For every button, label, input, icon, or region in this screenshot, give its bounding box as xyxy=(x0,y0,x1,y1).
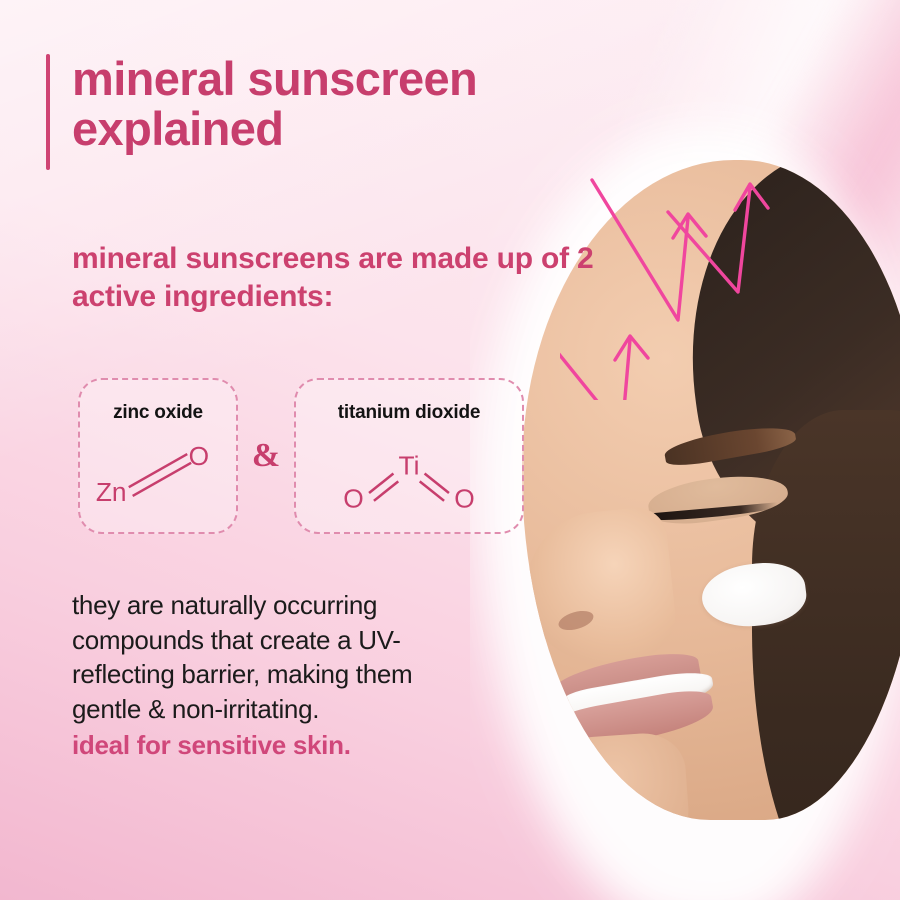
atom-label-ti: Ti xyxy=(399,451,420,481)
body-paragraph: they are naturally occurring compounds t… xyxy=(72,588,472,763)
ingredient-row: zinc oxide Zn O & titanium dioxide Ti O … xyxy=(78,378,524,534)
titanium-dioxide-structure-icon: Ti O O xyxy=(296,380,522,532)
body-text: they are naturally occurring compounds t… xyxy=(72,590,412,724)
ampersand-separator: & xyxy=(238,437,294,475)
page-title: mineral sunscreen explained xyxy=(72,54,477,155)
ingredient-card-zinc-oxide: zinc oxide Zn O xyxy=(78,378,238,534)
subheading: mineral sunscreens are made up of 2 acti… xyxy=(72,240,602,317)
page-title-line1: mineral sunscreen xyxy=(72,52,477,105)
body-highlight-text: ideal for sensitive skin. xyxy=(72,728,472,763)
atom-label-o: O xyxy=(189,441,209,471)
page-title-line2: explained xyxy=(72,102,283,155)
ingredient-card-titanium-dioxide: titanium dioxide Ti O O xyxy=(294,378,524,534)
model-photo xyxy=(470,0,900,900)
zinc-oxide-structure-icon: Zn O xyxy=(80,380,236,532)
atom-label-o-right: O xyxy=(454,484,474,514)
poster-canvas: mineral sunscreen explained mineral suns… xyxy=(0,0,900,900)
atom-label-zn: Zn xyxy=(96,477,127,507)
title-accent-bar xyxy=(46,54,50,170)
headline-block: mineral sunscreen explained xyxy=(46,54,477,170)
atom-label-o-left: O xyxy=(343,484,363,514)
